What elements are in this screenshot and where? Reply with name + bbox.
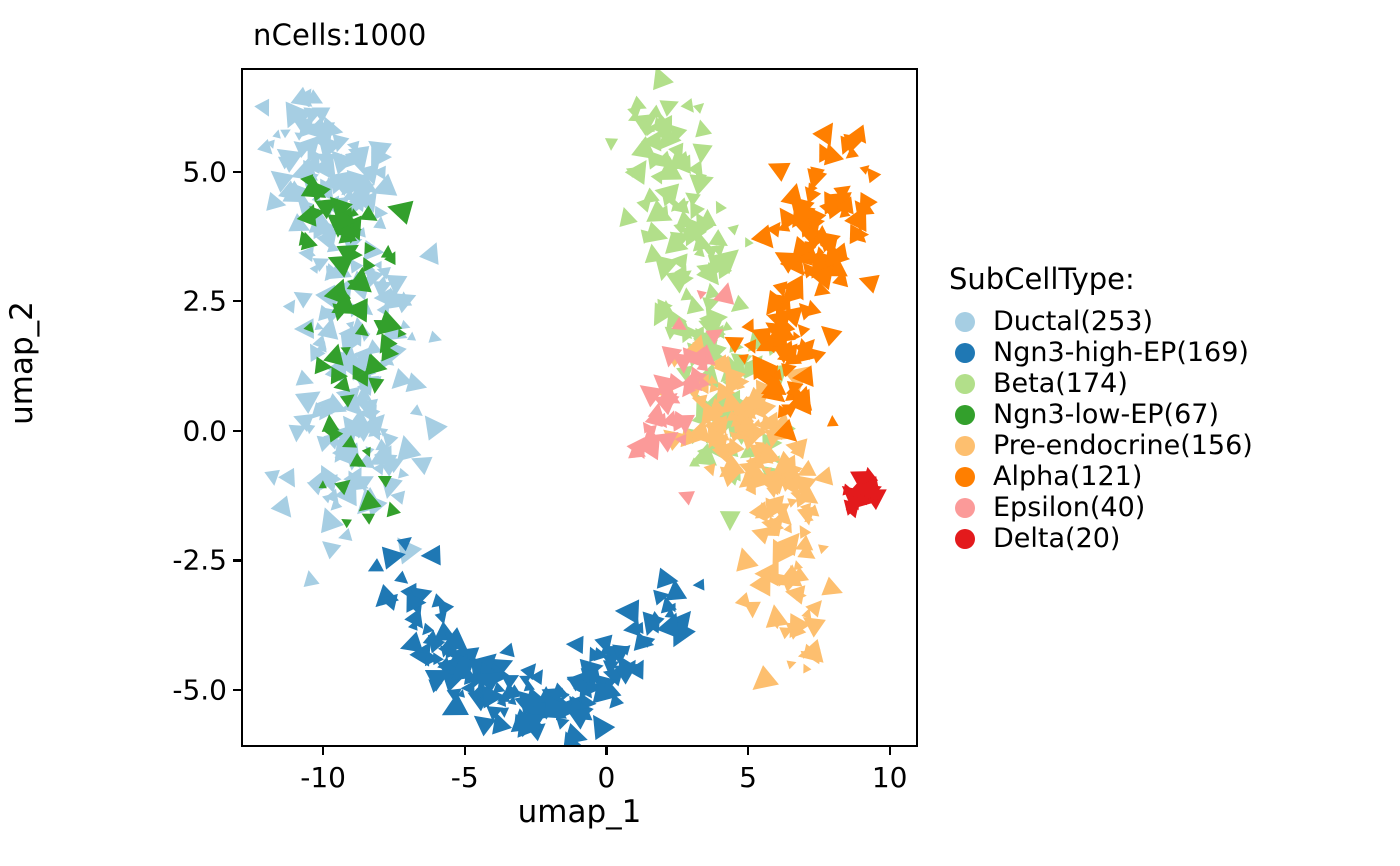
scatter-point xyxy=(400,320,412,332)
x-tick-mark xyxy=(889,747,891,755)
x-tick-label: 5 xyxy=(688,761,808,794)
scatter-point xyxy=(821,577,846,603)
legend-item[interactable]: Alpha(121) xyxy=(949,461,1369,492)
legend-color-swatch xyxy=(955,374,975,394)
scatter-point xyxy=(614,598,639,624)
plot-area xyxy=(241,68,918,747)
legend-color-swatch xyxy=(955,436,975,456)
scatter-point xyxy=(278,468,303,492)
scatter-point xyxy=(498,643,515,661)
scatter-series xyxy=(254,84,447,587)
legend-item-label: Delta(20) xyxy=(993,523,1120,554)
scatter-point xyxy=(745,665,779,700)
legend-color-swatch xyxy=(955,467,975,487)
scatter-point xyxy=(691,144,713,165)
y-tick-mark xyxy=(233,689,241,691)
legend-items: Ductal(253)Ngn3-high-EP(169)Beta(174)Ngn… xyxy=(949,306,1369,554)
scatter-point xyxy=(856,269,880,294)
scatter-point xyxy=(394,571,412,589)
legend: SubCellType: Ductal(253)Ngn3-high-EP(169… xyxy=(949,262,1369,554)
scatter-point xyxy=(731,544,759,571)
umap-scatter-figure: nCells:1000 5.02.50.0-2.5-5.0 -10-50510 … xyxy=(0,0,1400,866)
legend-item-label: Ngn3-low-EP(67) xyxy=(993,399,1219,430)
scatter-point xyxy=(382,499,401,517)
scatter-point xyxy=(711,198,727,214)
scatter-point xyxy=(675,485,695,505)
scatter-point xyxy=(280,125,293,138)
scatter-point xyxy=(398,468,410,481)
legend-title: SubCellType: xyxy=(949,262,1369,296)
scatter-point xyxy=(271,495,300,524)
scatter-point xyxy=(254,99,276,121)
legend-item[interactable]: Ngn3-low-EP(67) xyxy=(949,399,1369,430)
y-tick-label: -2.5 xyxy=(107,544,227,577)
scatter-point xyxy=(301,569,320,587)
legend-item-label: Beta(174) xyxy=(993,368,1128,399)
scatter-point xyxy=(763,154,790,182)
x-tick-mark xyxy=(605,747,607,755)
x-tick-label: 0 xyxy=(546,761,666,794)
y-tick-mark xyxy=(233,171,241,173)
scatter-point xyxy=(419,238,446,265)
scatter-point xyxy=(429,331,444,347)
scatter-point xyxy=(384,194,414,224)
scatter-series xyxy=(834,465,887,518)
scatter-point xyxy=(659,93,682,117)
scatter-point xyxy=(264,470,282,487)
scatter-point xyxy=(814,318,842,346)
scatter-point xyxy=(364,558,384,578)
scatter-point xyxy=(257,139,278,160)
scatter-point xyxy=(646,70,674,90)
legend-item-label: Pre-endocrine(156) xyxy=(993,430,1253,461)
x-tick-mark xyxy=(747,747,749,755)
scatter-point xyxy=(287,425,306,443)
scatter-point xyxy=(728,221,743,236)
x-axis-label: umap_1 xyxy=(241,794,918,830)
legend-item-label: Ductal(253) xyxy=(993,306,1153,337)
scatter-point xyxy=(410,404,427,421)
y-tick-mark xyxy=(233,559,241,561)
scatter-point xyxy=(818,541,830,554)
y-tick-mark xyxy=(233,300,241,302)
scatter-point xyxy=(812,116,842,146)
x-tick-mark xyxy=(322,747,324,755)
scatter-point xyxy=(565,635,583,654)
scatter-point xyxy=(704,463,720,478)
legend-color-swatch xyxy=(955,529,975,549)
scatter-point xyxy=(811,466,833,489)
y-tick-mark xyxy=(233,430,241,432)
y-tick-label: -5.0 xyxy=(107,673,227,706)
legend-item-label: Ngn3-high-EP(169) xyxy=(993,337,1249,368)
scatter-point xyxy=(693,99,708,114)
scatter-point xyxy=(336,528,352,545)
y-tick-label: 5.0 xyxy=(107,155,227,188)
legend-color-swatch xyxy=(955,498,975,518)
scatter-series xyxy=(364,531,704,745)
scatter-point xyxy=(406,372,430,397)
legend-item-label: Epsilon(40) xyxy=(993,492,1145,523)
y-tick-label: 0.0 xyxy=(107,414,227,447)
x-tick-label: -10 xyxy=(263,761,383,794)
scatter-point xyxy=(352,249,363,261)
scatter-point xyxy=(420,545,440,566)
scatter-point xyxy=(720,511,741,531)
scatter-point xyxy=(787,658,798,670)
y-axis-label: umap_2 xyxy=(4,153,40,573)
scatter-point xyxy=(634,632,656,655)
scatter-point xyxy=(642,242,664,263)
legend-item[interactable]: Beta(174) xyxy=(949,368,1369,399)
x-tick-label: -5 xyxy=(405,761,525,794)
scatter-point xyxy=(615,204,638,227)
page-title: nCells:1000 xyxy=(253,18,426,52)
scatter-point xyxy=(384,368,412,396)
legend-color-swatch xyxy=(955,343,975,363)
scatter-point xyxy=(799,662,811,674)
y-tick-label: 2.5 xyxy=(107,285,227,318)
legend-item[interactable]: Ngn3-high-EP(169) xyxy=(949,337,1369,368)
scatter-point xyxy=(826,415,838,427)
legend-item[interactable]: Epsilon(40) xyxy=(949,492,1369,523)
legend-item[interactable]: Pre-endocrine(156) xyxy=(949,430,1369,461)
legend-color-swatch xyxy=(955,405,975,425)
x-tick-label: 10 xyxy=(830,761,950,794)
legend-item[interactable]: Delta(20) xyxy=(949,523,1369,554)
scatter-point xyxy=(604,138,618,151)
legend-color-swatch xyxy=(955,312,975,332)
scatter-point xyxy=(692,118,712,138)
legend-item-label: Alpha(121) xyxy=(993,461,1142,492)
x-tick-mark xyxy=(464,747,466,755)
scatter-point xyxy=(861,163,881,183)
scatter-point xyxy=(744,602,762,619)
scatter-point xyxy=(407,331,417,340)
scatter-points-layer xyxy=(243,70,916,745)
scatter-point xyxy=(296,370,317,392)
scatter-point xyxy=(316,534,341,559)
scatter-point xyxy=(692,579,704,592)
scatter-point xyxy=(741,235,754,248)
legend-item[interactable]: Ductal(253) xyxy=(949,306,1369,337)
